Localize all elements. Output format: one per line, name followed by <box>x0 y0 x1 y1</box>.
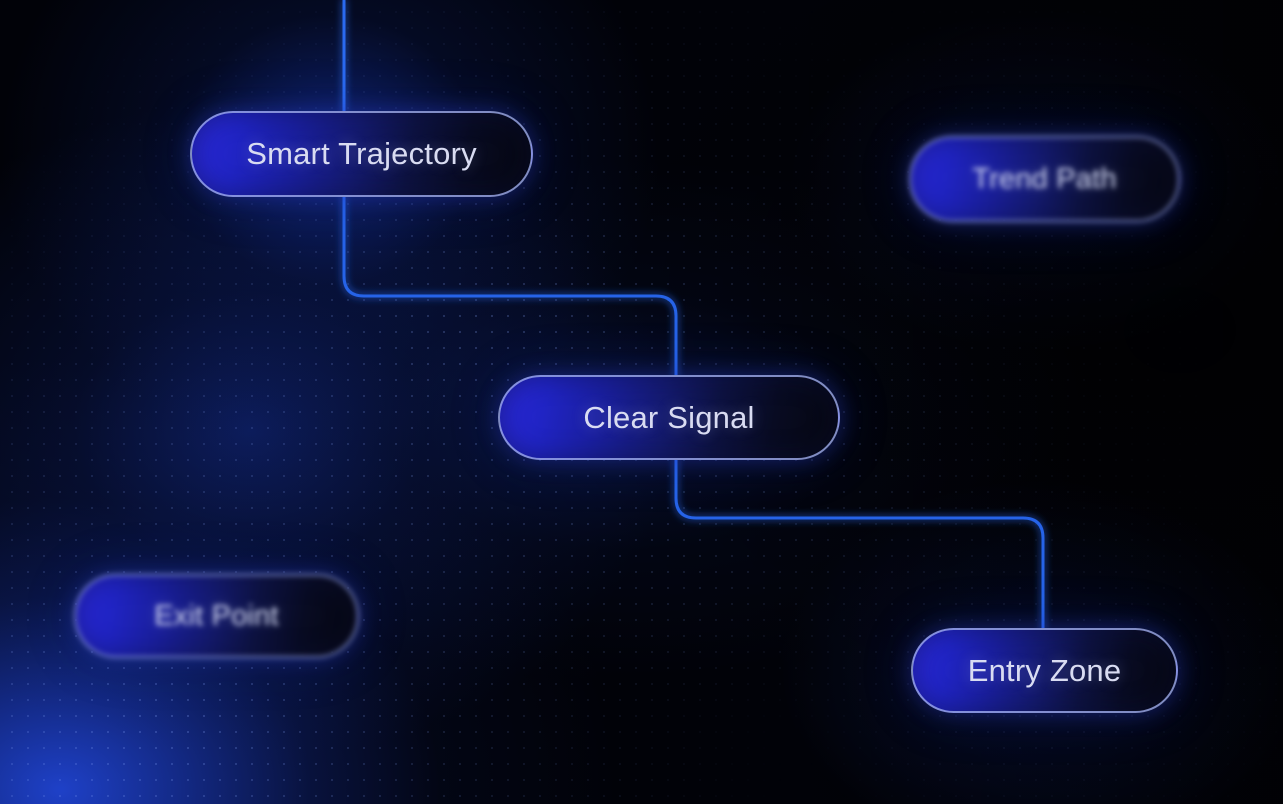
connector-smart-trajectory-to-clear-signal <box>344 196 676 378</box>
node-smart-trajectory[interactable]: Smart Trajectory <box>190 111 533 197</box>
node-entry-zone[interactable]: Entry Zone <box>911 628 1178 713</box>
flow-diagram-canvas: Smart Trajectory Trend Path Clear Signal… <box>0 0 1283 804</box>
node-label-trend-path: Trend Path <box>972 163 1116 196</box>
node-label-exit-point: Exit Point <box>154 600 279 633</box>
node-label-entry-zone: Entry Zone <box>968 653 1122 689</box>
node-label-smart-trajectory: Smart Trajectory <box>246 136 477 172</box>
connector-clear-signal-to-entry-zone <box>676 459 1043 630</box>
node-trend-path[interactable]: Trend Path <box>909 136 1180 222</box>
node-label-clear-signal: Clear Signal <box>583 400 754 436</box>
node-clear-signal[interactable]: Clear Signal <box>498 375 840 460</box>
node-exit-point[interactable]: Exit Point <box>74 574 359 658</box>
